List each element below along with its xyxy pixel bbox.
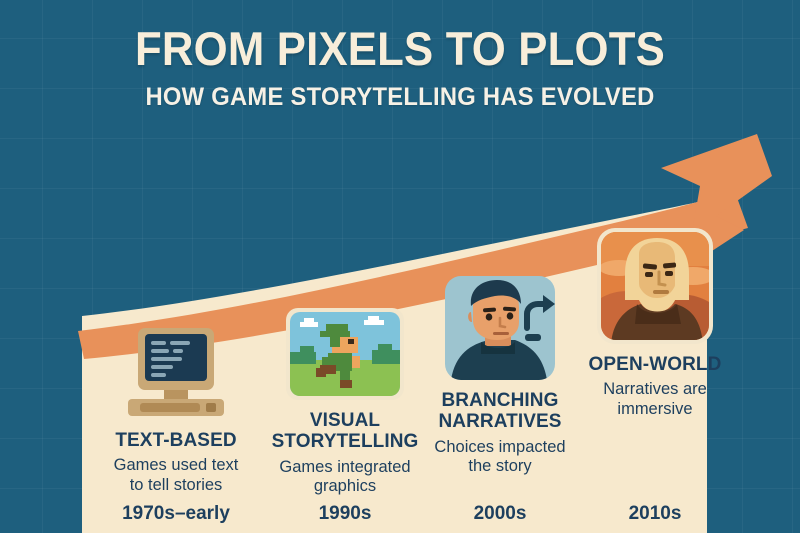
stage-heading: TEXT-BASED	[96, 430, 256, 451]
stage-heading: BRANCHING NARRATIVES	[420, 390, 580, 433]
timeline-stage-branching-narratives[interactable]: BRANCHING NARRATIVES Choices impacted th…	[420, 276, 580, 477]
timeline-columns: TEXT-BASED Games used text to tell stori…	[0, 0, 800, 533]
branching-character-icon	[445, 276, 555, 380]
timeline-stage-visual-storytelling[interactable]: VISUAL STORYTELLING Games integrated gra…	[265, 308, 425, 497]
stage-year-2000s: 2000s	[420, 503, 580, 525]
open-world-character-icon	[597, 228, 713, 344]
stage-heading: VISUAL STORYTELLING	[265, 410, 425, 453]
infographic-canvas: FROM PIXELS TO PLOTS HOW GAME STORYTELLI…	[0, 0, 800, 533]
stage-year-2010s: 2010s	[575, 503, 735, 525]
stage-description: Narratives are immersive	[575, 380, 735, 420]
stage-year-1970s: 1970s–early	[96, 503, 256, 525]
stage-heading: OPEN-WORLD	[575, 354, 735, 375]
stage-description: Games integrated graphics	[265, 458, 425, 498]
retro-computer-icon	[124, 328, 228, 420]
stage-description: Choices impacted the story	[420, 438, 580, 478]
timeline-stage-open-world[interactable]: OPEN-WORLD Narratives are immersive	[575, 228, 735, 420]
pixel-sprite-icon	[286, 308, 404, 400]
stage-year-1990s: 1990s	[265, 503, 425, 525]
stage-description: Games used text to tell stories	[96, 456, 256, 496]
timeline-stage-text-based[interactable]: TEXT-BASED Games used text to tell stori…	[96, 328, 256, 496]
